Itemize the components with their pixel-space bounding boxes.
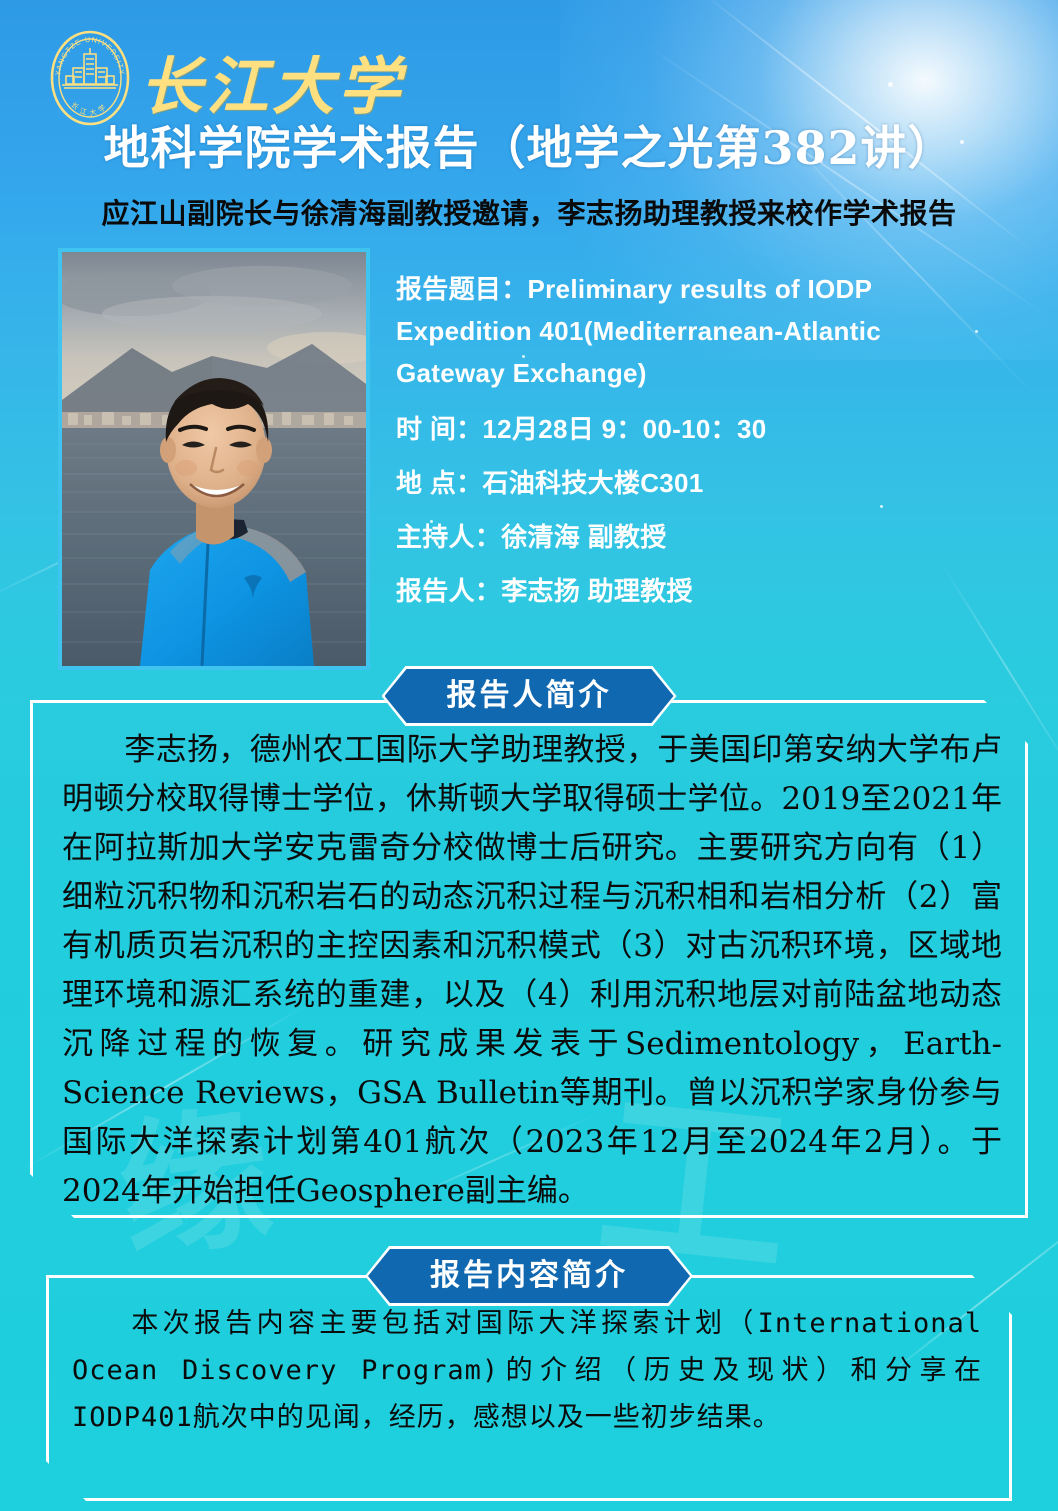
talk-content-content: 本次报告内容主要包括对国际大洋探索计划（International Ocean … — [72, 1308, 982, 1433]
speaker-bio-text-wrap: 李志扬，德州农工国际大学助理教授，于美国印第安纳大学布卢明顿分校取得博士学位，休… — [62, 726, 1002, 1216]
talk-speaker: 报告人：李志扬 助理教授 — [396, 570, 996, 612]
speaker-bio-banner-row: 报告人简介 — [0, 666, 1058, 726]
talk-time: 时 间：12月28日 9：00-10：30 — [396, 408, 996, 450]
talk-content-text-wrap: 本次报告内容主要包括对国际大洋探索计划（International Ocean … — [72, 1300, 982, 1441]
speaker-bio-content: 李志扬，德州农工国际大学助理教授，于美国印第安纳大学布卢明顿分校取得博士学位，休… — [62, 732, 1002, 1209]
page-subtitle: 应江山副院长与徐清海副教授邀请，李志扬助理教授来校作学术报告 — [0, 192, 1058, 232]
poster-root: 缘 工 YANGTZE UNIVERSITY 长江大学 — [0, 0, 1058, 1511]
talk-content-paragraph: 本次报告内容主要包括对国际大洋探索计划（International Ocean … — [72, 1300, 982, 1441]
event-info: 报告题目：Preliminary results of IODP Expedit… — [396, 268, 996, 624]
speaker-bio-banner-border: 报告人简介 — [382, 666, 677, 726]
speaker-photo — [58, 248, 370, 670]
svg-text:YANGTZE UNIVERSITY: YANGTZE UNIVERSITY — [53, 35, 127, 76]
page-title: 地科学院学术报告（地学之光第382讲） — [0, 112, 1058, 178]
poster-header: YANGTZE UNIVERSITY 长江大学 — [0, 0, 1058, 245]
talk-title: 报告题目：Preliminary results of IODP Expedit… — [396, 268, 996, 394]
talk-content-banner: 报告内容简介 — [368, 1249, 690, 1303]
talk-content-banner-row: 报告内容简介 — [0, 1246, 1058, 1306]
talk-host: 主持人：徐清海 副教授 — [396, 516, 996, 558]
speaker-bio-paragraph: 李志扬，德州农工国际大学助理教授，于美国印第安纳大学布卢明顿分校取得博士学位，休… — [62, 726, 1002, 1216]
speaker-bio-banner: 报告人简介 — [385, 669, 674, 723]
talk-content-banner-border: 报告内容简介 — [365, 1246, 693, 1306]
talk-location: 地 点：石油科技大楼C301 — [396, 462, 996, 504]
